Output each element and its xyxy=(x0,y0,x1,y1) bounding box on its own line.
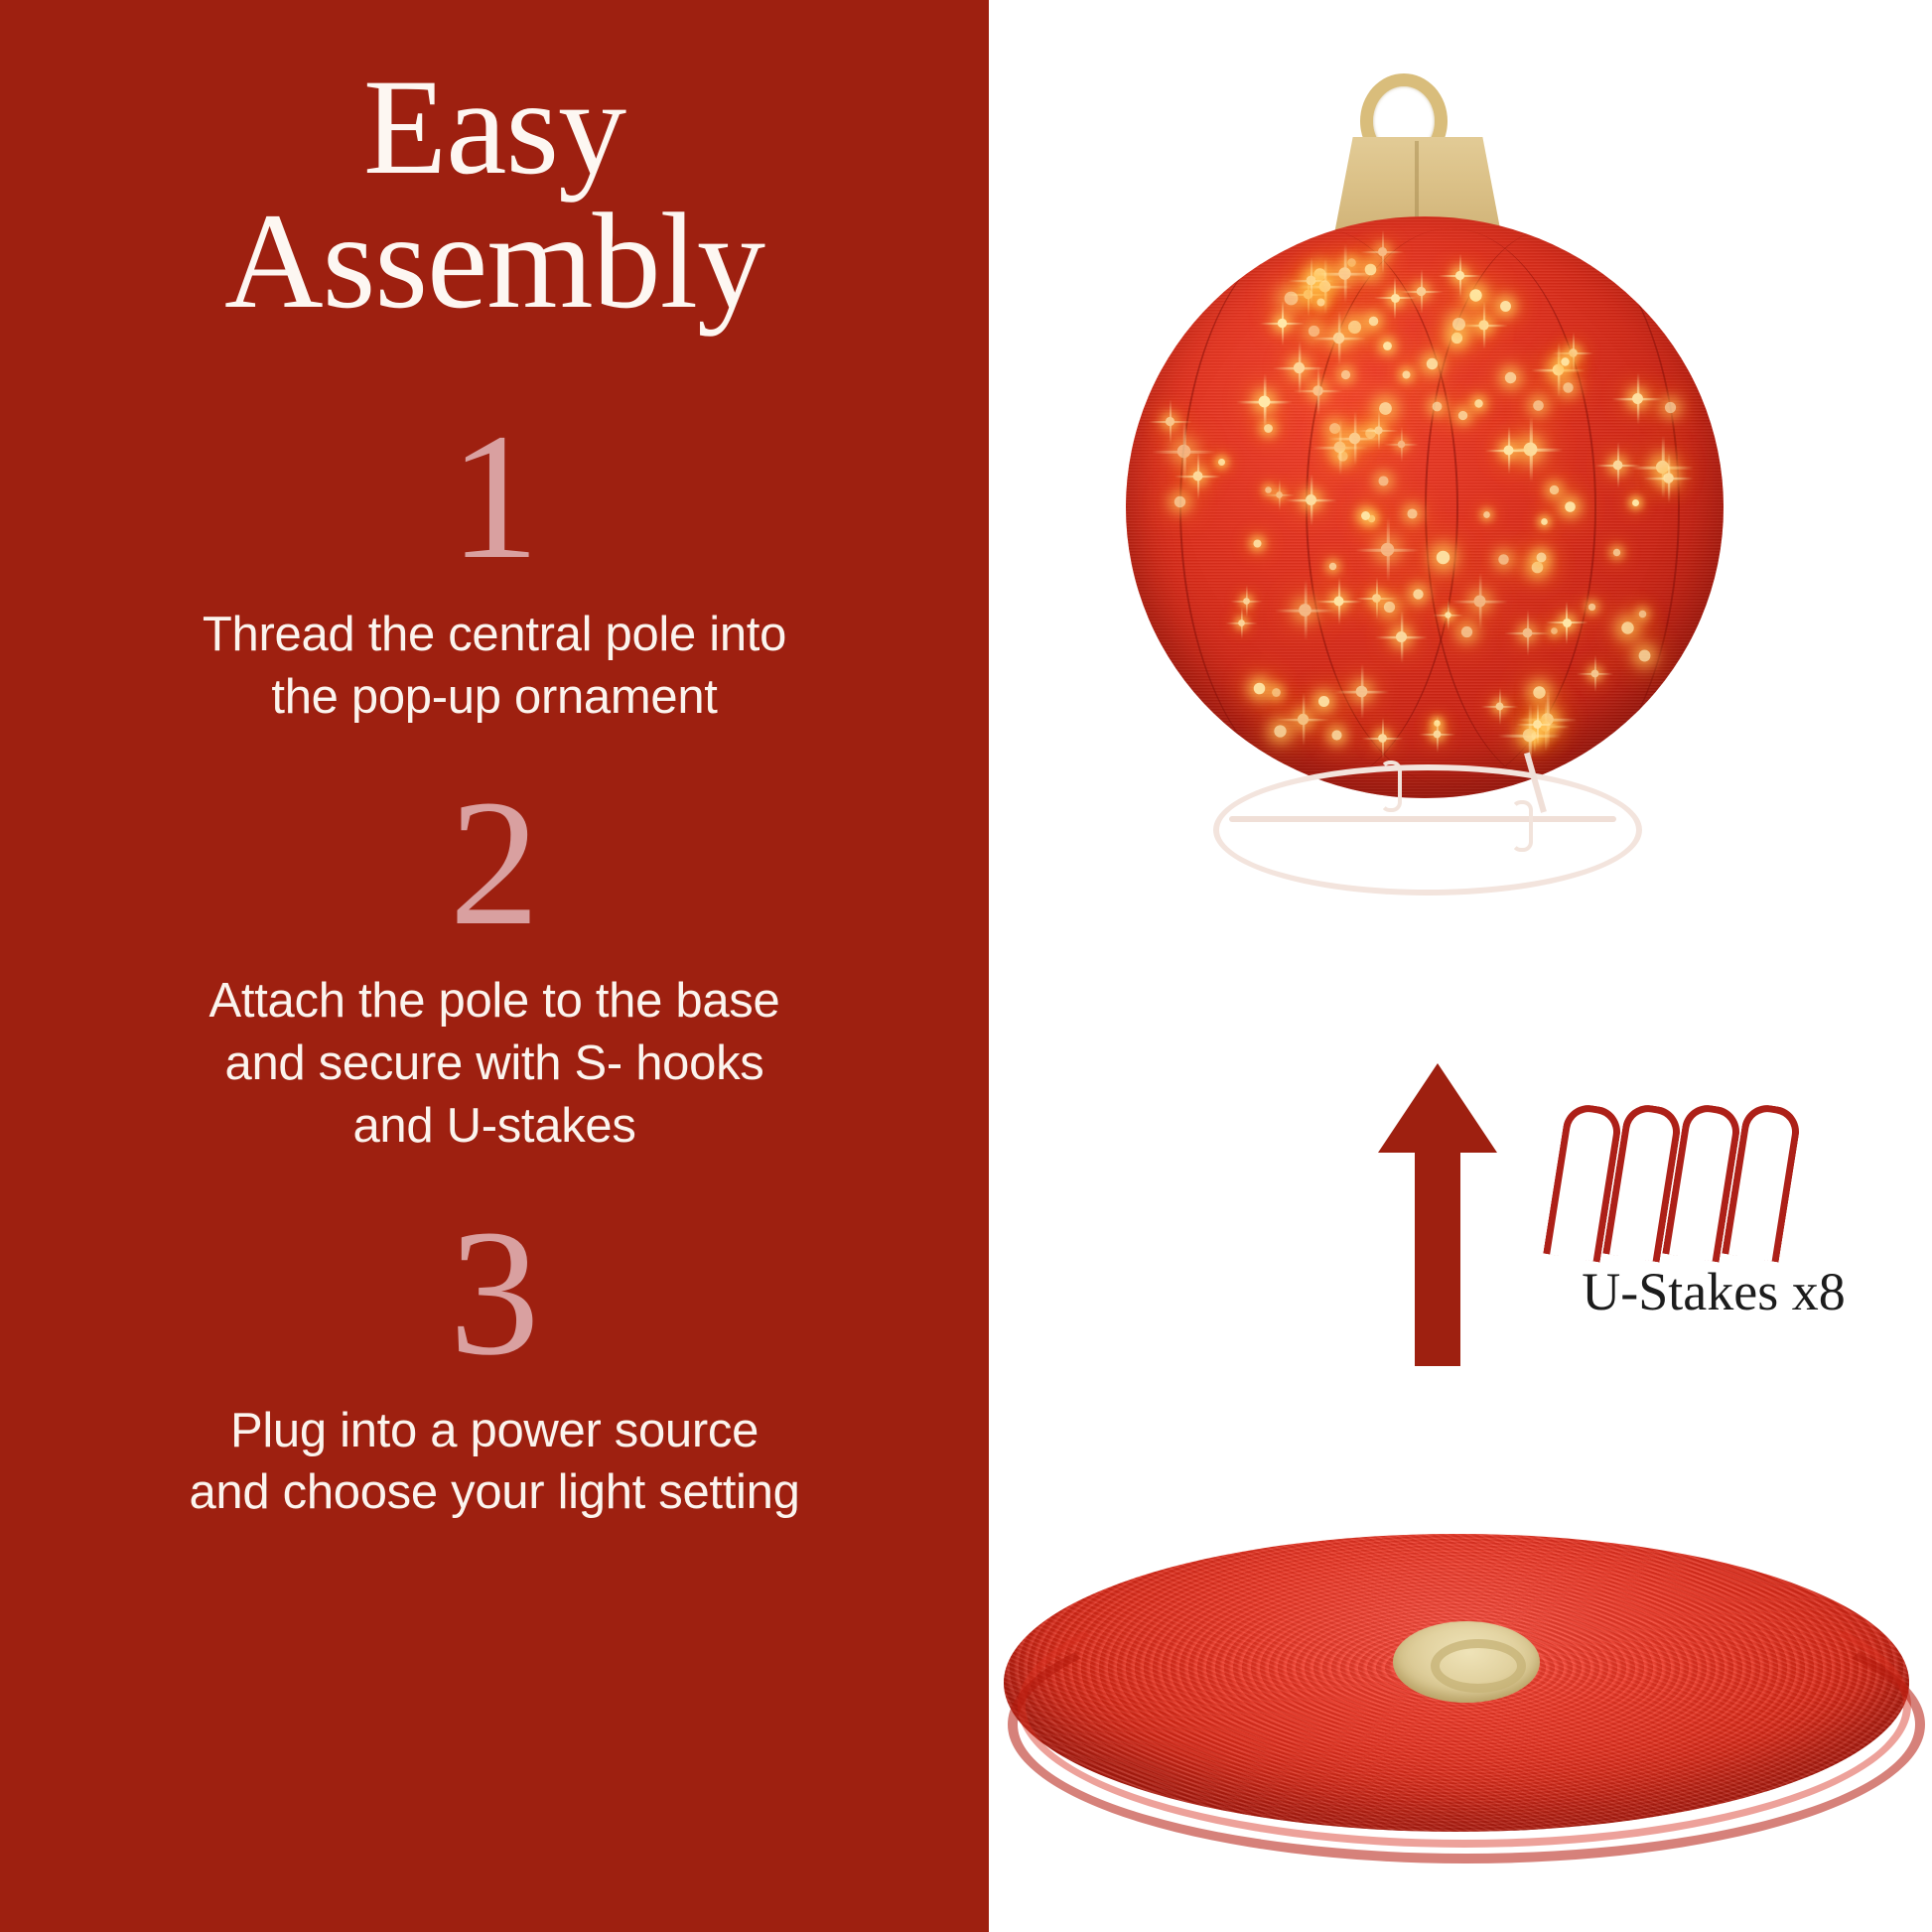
ornament-ball xyxy=(1126,216,1724,798)
ornament-light xyxy=(1461,626,1472,637)
ornament-light xyxy=(1564,382,1574,392)
ornament-light xyxy=(1504,445,1514,455)
ornament-light xyxy=(1383,342,1392,350)
ornament-light xyxy=(1380,402,1393,415)
ornament-light xyxy=(1475,400,1483,408)
step-number-2: 2 xyxy=(0,773,989,962)
assembled-ornament-image xyxy=(1001,60,1924,894)
ornament-light xyxy=(1663,473,1674,483)
ornament-light xyxy=(1193,472,1203,482)
ornament-light xyxy=(1348,320,1361,333)
ornament-light xyxy=(1238,620,1245,626)
ornament-light xyxy=(1277,319,1286,328)
ornament-light xyxy=(1417,287,1426,296)
ornament-light xyxy=(1478,320,1488,330)
ornament-light xyxy=(1639,610,1647,618)
ornament-light xyxy=(1403,371,1411,379)
ornament-stand xyxy=(1213,755,1630,894)
ornament-light xyxy=(1369,317,1379,327)
ornament-light xyxy=(1349,433,1360,444)
ornament-light xyxy=(1334,441,1346,453)
ornament-light xyxy=(1341,370,1350,379)
ornament-light xyxy=(1613,460,1623,470)
ornament-lights xyxy=(1126,216,1724,798)
ornament-light xyxy=(1174,496,1185,507)
ornament-light xyxy=(1258,395,1270,407)
ornament-light xyxy=(1553,364,1565,376)
ornament-light xyxy=(1334,596,1344,606)
ornament-light xyxy=(1396,631,1407,642)
ornament-light xyxy=(1531,562,1543,574)
ornament-light xyxy=(1541,518,1548,525)
ornament-light xyxy=(1306,494,1316,505)
ornament-light xyxy=(1383,602,1394,613)
collapsed-disc-hub xyxy=(1393,1621,1540,1703)
ornament-light xyxy=(1272,688,1281,697)
stand-crossbar xyxy=(1229,816,1616,822)
ornament-light xyxy=(1165,417,1173,426)
ornament-light xyxy=(1298,714,1309,725)
ornament-light xyxy=(1563,619,1572,627)
ornament-light xyxy=(1551,628,1558,635)
step-number-3: 3 xyxy=(0,1203,989,1392)
ornament-light xyxy=(1316,298,1324,306)
ornament-light xyxy=(1452,318,1465,331)
ornament-light xyxy=(1347,258,1356,267)
ornament-light xyxy=(1591,670,1599,678)
ornament-light xyxy=(1522,627,1532,637)
ornament-light xyxy=(1414,589,1424,599)
title-line-1: Easy xyxy=(40,58,949,198)
ornament-light xyxy=(1398,440,1405,447)
ornament-light xyxy=(1266,486,1273,493)
collapsed-ornament-image xyxy=(1004,1494,1909,1862)
ornament-light xyxy=(1356,686,1368,698)
ornament-light xyxy=(1332,333,1343,344)
ornament-light xyxy=(1474,596,1486,608)
ornament-light xyxy=(1632,499,1639,506)
step-number-1: 1 xyxy=(0,407,989,596)
ornament-light xyxy=(1299,604,1311,617)
ornament-light xyxy=(1533,720,1542,729)
ornament-light xyxy=(1632,393,1643,404)
ornament-light xyxy=(1639,650,1651,662)
ornament-light xyxy=(1505,372,1516,383)
ornament-light xyxy=(1523,729,1536,742)
instructions-panel: Easy Assembly 1 Thread the central pole … xyxy=(0,0,989,1932)
ornament-light xyxy=(1408,509,1418,519)
s-hook-icon xyxy=(1380,760,1402,812)
ornament-light xyxy=(1391,294,1400,303)
ornament-light xyxy=(1284,292,1298,306)
step-item-2: 2 Attach the pole to the base and secure… xyxy=(0,773,989,1157)
ornament-light xyxy=(1458,411,1467,420)
ornament-light xyxy=(1569,348,1578,357)
arrow-shaft xyxy=(1415,1149,1460,1366)
ornament-light xyxy=(1318,696,1329,707)
step-text-2: Attach the pole to the base and secure w… xyxy=(0,970,989,1157)
ornament-light xyxy=(1613,549,1620,556)
ornament-light xyxy=(1254,540,1262,548)
assembly-infographic: Easy Assembly 1 Thread the central pole … xyxy=(0,0,1932,1932)
s-hook-icon xyxy=(1511,800,1533,852)
step-text-3: Plug into a power source and choose your… xyxy=(0,1400,989,1524)
ornament-light xyxy=(1455,271,1464,280)
ornament-light xyxy=(1533,686,1545,698)
ornament-light xyxy=(1588,603,1595,610)
ornament-light xyxy=(1498,554,1509,565)
ornament-light xyxy=(1312,385,1322,395)
ornament-light xyxy=(1218,459,1225,466)
ornament-light xyxy=(1338,268,1350,280)
ornament-light xyxy=(1243,598,1250,605)
ornament-light xyxy=(1483,511,1490,518)
ornament-light xyxy=(1445,613,1450,619)
ornament-light xyxy=(1319,280,1331,292)
ornament-light xyxy=(1378,734,1387,743)
ornament-light xyxy=(1378,476,1388,485)
ornament-light xyxy=(1451,333,1462,344)
ornament-light xyxy=(1177,445,1191,459)
ornament-light xyxy=(1561,358,1569,366)
ornament-light xyxy=(1549,484,1558,493)
ornament-light xyxy=(1534,400,1545,411)
ornament-light xyxy=(1294,362,1305,373)
ornament-light xyxy=(1307,275,1316,285)
stand-ring xyxy=(1213,764,1642,896)
steps-list: 1 Thread the central pole into the pop-u… xyxy=(0,407,989,1570)
ornament-light xyxy=(1496,702,1504,710)
u-stakes-label: U-Stakes x8 xyxy=(1515,1263,1912,1321)
ornament-light xyxy=(1254,683,1266,695)
ornament-light xyxy=(1437,551,1450,565)
arrow-head xyxy=(1378,1063,1497,1153)
step-text-1: Thread the central pole into the pop-up … xyxy=(0,604,989,728)
ornament-light xyxy=(1372,594,1381,603)
ornament-light xyxy=(1427,357,1438,368)
ornament-light xyxy=(1331,730,1341,740)
page-title: Easy Assembly xyxy=(0,58,989,332)
ornament-light xyxy=(1309,325,1319,336)
ornament-light xyxy=(1329,563,1336,570)
step-item-1: 1 Thread the central pole into the pop-u… xyxy=(0,407,989,728)
ornament-light xyxy=(1381,542,1395,556)
ornament-light xyxy=(1277,492,1284,499)
ornament-light xyxy=(1434,731,1442,739)
step-item-3: 3 Plug into a power source and choose yo… xyxy=(0,1203,989,1524)
product-image-panel: U-Stakes x8 xyxy=(989,0,1932,1932)
title-line-2: Assembly xyxy=(40,192,949,332)
ornament-light xyxy=(1378,247,1387,256)
ornament-light xyxy=(1621,621,1634,634)
ornament-light xyxy=(1536,553,1546,563)
ornament-light xyxy=(1469,289,1481,301)
up-arrow-icon xyxy=(1378,1063,1497,1366)
ornament-light xyxy=(1275,726,1287,738)
ornament-light xyxy=(1566,501,1577,512)
ornament-light xyxy=(1375,427,1383,435)
ornament-light xyxy=(1500,301,1511,312)
ornament-light xyxy=(1665,402,1676,413)
ornament-light xyxy=(1433,402,1443,412)
